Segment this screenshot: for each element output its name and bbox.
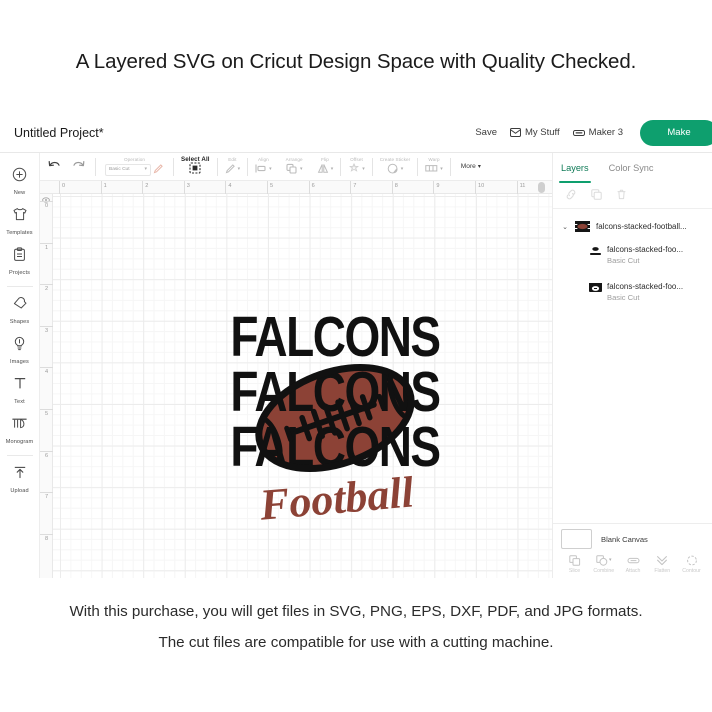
lightbulb-icon: [13, 336, 26, 356]
sidebar-item-images[interactable]: Images: [0, 330, 40, 370]
tab-color-sync[interactable]: Color Sync: [609, 153, 654, 183]
sidebar-item-new[interactable]: New: [0, 161, 40, 201]
combine-icon: ▾: [596, 555, 612, 566]
sidebar-label-new: New: [14, 190, 26, 196]
page-root: A Layered SVG on Cricut Design Space wit…: [0, 0, 712, 712]
artwork-svg: FALCONS FALCONS FALCONS FALCONS FALCONS: [190, 306, 480, 536]
sidebar-item-text[interactable]: Text: [0, 370, 40, 410]
make-label: Make: [667, 127, 690, 138]
ruler-horizontal[interactable]: 0 1 2 3 4 5 6 7 8 9 10 11: [40, 181, 552, 194]
contour-icon: [686, 555, 698, 566]
tab-layers[interactable]: Layers: [561, 153, 589, 183]
chevron-down-icon: ▾: [478, 164, 481, 170]
layer-operation: Basic Cut: [607, 292, 683, 303]
my-stuff-button[interactable]: My Stuff: [510, 127, 560, 138]
edit-tool[interactable]: Edit ▾: [218, 153, 248, 181]
operation-select[interactable]: Basic Cut ▾: [105, 164, 151, 176]
flip-body: ▾: [317, 163, 334, 176]
upload-arrow-icon: [13, 465, 27, 485]
chevron-down-icon: ▾: [300, 167, 303, 172]
contour-button[interactable]: Contour: [677, 555, 706, 574]
layer-thumbnail: [589, 244, 602, 255]
chevron-down-icon: ▾: [144, 167, 147, 172]
pencil-icon: [225, 161, 236, 179]
attach-label: Attach: [626, 568, 641, 574]
layer-operation: Basic Cut: [607, 255, 683, 266]
operation-body: Basic Cut ▾: [105, 163, 164, 176]
sidebar-label-shapes: Shapes: [10, 319, 30, 325]
tshirt-icon: [12, 207, 28, 227]
rail-divider: [7, 455, 33, 456]
edit-toolbar: Operation Basic Cut ▾ Select All: [40, 153, 552, 181]
offset-body: ▾: [348, 163, 365, 176]
layer-thumbnail: [589, 281, 602, 292]
sidebar-item-monogram[interactable]: Monogram: [0, 410, 40, 450]
canvas-scrollbar[interactable]: [538, 182, 545, 193]
slice-icon: [569, 555, 581, 566]
flip-icon: [317, 161, 329, 179]
canvas-swatch-label: Blank Canvas: [601, 535, 648, 544]
layer-name: falcons-stacked-football...: [596, 221, 687, 232]
chevron-down-icon[interactable]: ⌄: [561, 223, 569, 231]
flip-tool[interactable]: Flip ▾: [310, 153, 341, 181]
monogram-icon: [11, 416, 28, 436]
my-stuff-label: My Stuff: [525, 127, 560, 138]
undo-redo-group: [40, 158, 95, 176]
layer-name: falcons-stacked-foo...: [607, 281, 683, 292]
footer-line-2: The cut files are compatible for use wit…: [0, 627, 712, 658]
flatten-label: Flatten: [654, 568, 670, 574]
sidebar-item-shapes[interactable]: Shapes: [0, 290, 40, 330]
layer-list: ⌄ falcons-stacked-football... falcons-st…: [553, 209, 712, 306]
clipboard-icon: [13, 247, 26, 267]
layer-tools: [553, 183, 712, 209]
text-t-icon: [13, 376, 27, 396]
sidebar-item-projects[interactable]: Projects: [0, 241, 40, 281]
panel-bottom-actions: Slice ▾ Combine Attach: [553, 553, 712, 574]
chevron-down-icon: ▾: [401, 167, 404, 172]
arrange-body: ▾: [286, 163, 303, 176]
page-headline: A Layered SVG on Cricut Design Space wit…: [0, 50, 712, 74]
offset-tool[interactable]: Offset ▾: [341, 153, 372, 181]
select-all-body: [189, 163, 201, 176]
left-rail: New Templates Projects Shapes: [0, 153, 40, 578]
machine-icon: [573, 128, 585, 137]
panel-tabs: Layers Color Sync: [553, 153, 712, 183]
machine-selector[interactable]: Maker 3: [573, 127, 623, 138]
topbar-actions: Save My Stuff Maker 3 Make: [475, 113, 712, 152]
attach-button[interactable]: Attach: [619, 555, 648, 574]
layer-name: falcons-stacked-foo...: [607, 244, 683, 255]
cricut-design-space-window: Untitled Project* Save My Stuff Maker 3: [0, 112, 712, 578]
undo-icon[interactable]: [48, 158, 61, 176]
select-all-icon: [189, 161, 201, 179]
layer-row-child[interactable]: falcons-stacked-foo... Basic Cut: [553, 241, 712, 269]
design-canvas[interactable]: FALCONS FALCONS FALCONS FALCONS FALCONS: [40, 181, 552, 578]
plus-circle-icon: [12, 167, 27, 187]
chevron-down-icon: ▾: [362, 167, 365, 172]
rail-divider: [7, 286, 33, 287]
chevron-down-icon: ▾: [238, 167, 241, 172]
app-topbar: Untitled Project* Save My Stuff Maker 3: [0, 113, 712, 153]
ruler-vertical[interactable]: 0 1 2 3 4 5 6 7 8: [40, 194, 53, 578]
warp-tool[interactable]: Warp ▾: [418, 153, 450, 181]
envelope-icon: [510, 128, 521, 137]
warp-body: ▾: [425, 163, 443, 176]
edit-body: ▾: [225, 163, 241, 176]
sidebar-label-templates: Templates: [6, 230, 32, 236]
panel-bottom: Blank Canvas Slice ▾ Combi: [553, 523, 712, 578]
create-sticker-body: ▾: [387, 163, 404, 176]
attach-icon: [627, 555, 640, 566]
canvas-swatch-row[interactable]: Blank Canvas: [553, 524, 712, 553]
sidebar-label-upload: Upload: [10, 488, 28, 494]
sidebar-item-templates[interactable]: Templates: [0, 201, 40, 241]
delete-icon[interactable]: [616, 187, 627, 205]
machine-label: Maker 3: [589, 127, 623, 138]
chevron-down-icon: ▾: [440, 167, 443, 172]
tab-color-sync-label: Color Sync: [609, 163, 654, 173]
arrange-icon: [286, 161, 298, 179]
artwork-falcons-football[interactable]: FALCONS FALCONS FALCONS FALCONS FALCONS: [190, 306, 480, 536]
canvas-color-swatch[interactable]: [561, 529, 592, 549]
make-button[interactable]: Make: [640, 120, 712, 146]
footer-copy: With this purchase, you will get files i…: [0, 596, 712, 658]
chevron-down-icon: ▾: [269, 167, 272, 172]
chevron-down-icon: ▾: [609, 558, 612, 563]
sidebar-item-upload[interactable]: Upload: [0, 459, 40, 499]
layer-text-block: falcons-stacked-foo... Basic Cut: [607, 281, 683, 303]
operation-value: Basic Cut: [109, 167, 130, 172]
combine-button[interactable]: ▾ Combine: [589, 555, 618, 574]
link-icon[interactable]: [565, 187, 577, 205]
project-title[interactable]: Untitled Project*: [14, 126, 104, 140]
warp-icon: [425, 161, 438, 179]
slice-label: Slice: [569, 568, 580, 574]
layer-row-child[interactable]: falcons-stacked-foo... Basic Cut: [553, 278, 712, 306]
flatten-icon: [656, 555, 668, 566]
offset-icon: [348, 161, 360, 179]
duplicate-icon[interactable]: [591, 187, 602, 205]
sidebar-label-projects: Projects: [9, 270, 30, 276]
align-icon: [255, 161, 267, 179]
combine-label: Combine: [593, 568, 614, 574]
slice-button[interactable]: Slice: [560, 555, 589, 574]
sidebar-label-images: Images: [10, 359, 29, 365]
create-sticker-tool[interactable]: Create Sticker ▾: [373, 153, 418, 181]
redo-icon[interactable]: [72, 158, 85, 176]
save-label: Save: [475, 127, 497, 138]
layer-thumbnail: [574, 220, 591, 233]
sidebar-label-monogram: Monogram: [6, 439, 34, 445]
layer-text-block: falcons-stacked-foo... Basic Cut: [607, 244, 683, 266]
align-tool[interactable]: Align ▾: [248, 153, 279, 181]
operation-tool[interactable]: Operation Basic Cut ▾: [96, 153, 173, 181]
footer-line-1: With this purchase, you will get files i…: [0, 596, 712, 627]
tab-layers-label: Layers: [561, 163, 589, 173]
pen-color-icon[interactable]: [153, 161, 164, 179]
align-body: ▾: [255, 163, 272, 176]
layer-row-group[interactable]: ⌄ falcons-stacked-football...: [553, 217, 712, 236]
chevron-down-icon: ▾: [331, 167, 334, 172]
shapes-icon: [12, 296, 28, 316]
more-button[interactable]: More ▾: [451, 163, 481, 170]
contour-label: Contour: [682, 568, 700, 574]
more-label: More: [461, 163, 476, 170]
flatten-button[interactable]: Flatten: [648, 555, 677, 574]
right-panel: Layers Color Sync: [552, 153, 712, 578]
save-button[interactable]: Save: [475, 127, 497, 138]
svg-text:FALCONS: FALCONS: [230, 306, 440, 368]
select-all-tool[interactable]: Select All: [174, 153, 217, 181]
arrange-tool[interactable]: Arrange ▾: [279, 153, 310, 181]
sticker-icon: [387, 161, 399, 179]
sidebar-label-text: Text: [14, 399, 25, 405]
